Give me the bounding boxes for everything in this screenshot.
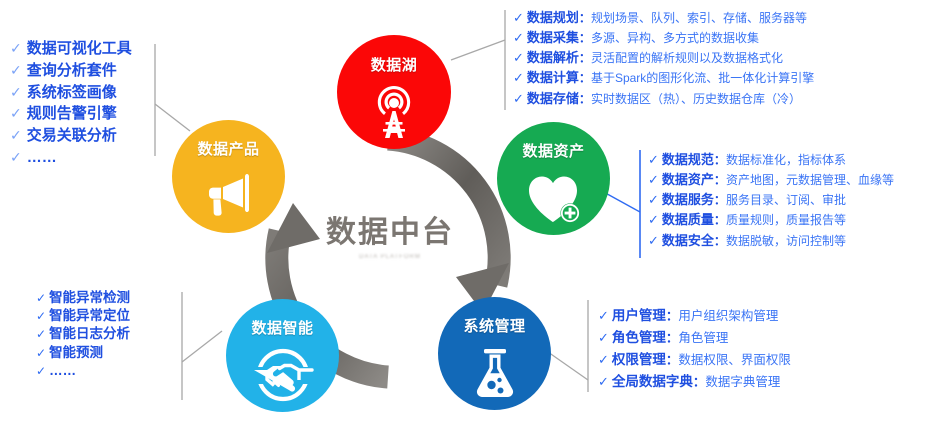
connector-intel xyxy=(182,292,222,400)
callout-item-separator: ： xyxy=(714,232,726,251)
callout-item-separator: ： xyxy=(714,171,726,190)
check-icon: ✓ xyxy=(598,349,609,370)
node-data-lake[interactable]: 数据湖 xyxy=(337,35,451,149)
node-data-intelligence[interactable]: 数据智能 xyxy=(226,299,339,412)
callout-item-desc: 数据脱敏，访问控制等 xyxy=(726,232,846,251)
callout-item-term: 智能异常检测 xyxy=(49,289,130,307)
check-icon: ✓ xyxy=(36,345,46,361)
callout-item: ✓智能预测 xyxy=(36,344,130,362)
callout-item-desc: 规划场景、队列、索引、存储、服务器等 xyxy=(591,9,807,28)
callout-item-term: 全局数据字典 xyxy=(612,371,693,393)
callout-item-separator: ： xyxy=(666,306,679,326)
callout-item-term: 数据采集 xyxy=(527,28,579,48)
callout-item: ✓全局数据字典：数据字典管理 xyxy=(598,371,791,393)
callout-item-term: 权限管理 xyxy=(612,349,666,371)
callout-item-separator: ： xyxy=(666,350,679,370)
callout-item-separator: ： xyxy=(693,372,706,392)
callout-item: ✓规则告警引擎 xyxy=(10,103,132,125)
callout-item-separator: ： xyxy=(714,151,726,170)
callout-item-desc: 服务目录、订阅、审批 xyxy=(726,191,846,210)
callout-item-term: 数据可视化工具 xyxy=(27,38,132,60)
megaphone-icon xyxy=(201,159,257,233)
node-data-asset-label: 数据资产 xyxy=(522,140,584,161)
callout-item-desc: 角色管理 xyxy=(678,328,728,348)
callout-item: ✓权限管理：数据权限、界面权限 xyxy=(598,349,791,371)
callout-item-term: 数据规划 xyxy=(527,8,579,28)
node-data-lake-label: 数据湖 xyxy=(371,54,418,75)
callout-item: ✓…… xyxy=(36,362,130,380)
callout-item-desc: 数据标准化，指标体系 xyxy=(726,151,846,170)
check-icon: ✓ xyxy=(513,68,524,88)
callout-item-desc: 实时数据区（热）、历史数据仓库（冷） xyxy=(591,90,801,109)
callout-item-separator: ： xyxy=(579,69,591,88)
node-system-management-label: 系统管理 xyxy=(463,315,525,336)
check-icon: ✓ xyxy=(10,38,22,58)
callout-item-desc: 资产地图，元数据管理、血缘等 xyxy=(726,171,894,190)
callout-item: ✓数据采集：多源、异构、多方式的数据收集 xyxy=(513,28,814,48)
callout-item: ✓交易关联分析 xyxy=(10,125,132,147)
heart-plus-icon xyxy=(524,161,584,235)
center-title-main: 数据中台 xyxy=(300,207,480,251)
check-icon: ✓ xyxy=(598,327,609,348)
callout-item: ✓数据可视化工具 xyxy=(10,38,132,60)
callout-item-desc: 用户组织架构管理 xyxy=(678,306,778,326)
check-icon: ✓ xyxy=(10,82,22,102)
handshake-icon xyxy=(252,338,314,412)
callout-item-desc: 灵活配置的解析规则以及数据格式化 xyxy=(591,49,783,68)
callout-data-asset: ✓数据规范：数据标准化，指标体系✓数据资产：资产地图，元数据管理、血缘等✓数据服… xyxy=(648,150,894,251)
callout-item-separator: ： xyxy=(714,191,726,210)
callout-item-separator: ： xyxy=(579,49,591,68)
callout-item-separator: ： xyxy=(579,90,591,109)
check-icon: ✓ xyxy=(513,8,524,28)
callout-item: ✓查询分析套件 xyxy=(10,60,132,82)
callout-item-term: 数据服务 xyxy=(662,190,714,210)
callout-data-intelligence: ✓智能异常检测✓智能异常定位✓智能日志分析✓智能预测✓…… xyxy=(36,289,130,380)
check-icon: ✓ xyxy=(648,231,659,251)
callout-item: ✓数据解析：灵活配置的解析规则以及数据格式化 xyxy=(513,48,814,68)
callout-item-desc: 质量规则，质量报告等 xyxy=(726,211,846,230)
node-data-product[interactable]: 数据产品 xyxy=(172,120,285,233)
callout-item: ✓数据安全：数据脱敏，访问控制等 xyxy=(648,231,894,251)
check-icon: ✓ xyxy=(36,326,46,342)
callout-item-term: 规则告警引擎 xyxy=(27,103,117,125)
callout-item-term: 数据质量 xyxy=(662,210,714,230)
callout-item-term: 数据资产 xyxy=(662,170,714,190)
connector-lake xyxy=(451,10,505,110)
callout-item: ✓数据资产：资产地图，元数据管理、血缘等 xyxy=(648,170,894,190)
callout-item: ✓数据质量：质量规则，质量报告等 xyxy=(648,210,894,230)
check-icon: ✓ xyxy=(648,210,659,230)
check-icon: ✓ xyxy=(10,103,22,123)
callout-item-term: 数据计算 xyxy=(527,68,579,88)
callout-item: ✓智能异常检测 xyxy=(36,289,130,307)
callout-item-term: 数据存储 xyxy=(527,89,579,109)
callout-item-term: 数据解析 xyxy=(527,48,579,68)
node-system-management[interactable]: 系统管理 xyxy=(438,297,551,410)
callout-item-term: 系统标签画像 xyxy=(27,82,117,104)
center-title: 数据中台 DATA PLATFORM xyxy=(300,207,480,260)
check-icon: ✓ xyxy=(513,48,524,68)
callout-data-lake: ✓数据规划：规划场景、队列、索引、存储、服务器等✓数据采集：多源、异构、多方式的… xyxy=(513,8,814,109)
callout-item-term: 智能预测 xyxy=(49,344,103,362)
check-icon: ✓ xyxy=(513,89,524,109)
check-icon: ✓ xyxy=(513,28,524,48)
center-title-subtitle: DATA PLATFORM xyxy=(300,254,480,260)
callout-item: ✓数据规划：规划场景、队列、索引、存储、服务器等 xyxy=(513,8,814,28)
callout-item-desc: 基于Spark的图形化流、批一体化计算引擎 xyxy=(591,69,814,88)
callout-item-term: 角色管理 xyxy=(612,327,666,349)
check-icon: ✓ xyxy=(598,371,609,392)
callout-item-term: 用户管理 xyxy=(612,305,666,327)
broadcast-tower-icon xyxy=(368,75,420,149)
check-icon: ✓ xyxy=(648,170,659,190)
callout-item-term: 查询分析套件 xyxy=(27,60,117,82)
callout-item: ✓数据规范：数据标准化，指标体系 xyxy=(648,150,894,170)
callout-item-term: 数据安全 xyxy=(662,231,714,251)
check-icon: ✓ xyxy=(10,147,22,167)
callout-item-separator: ： xyxy=(579,29,591,48)
callout-item-desc: 数据权限、界面权限 xyxy=(678,350,791,370)
check-icon: ✓ xyxy=(10,125,22,145)
check-icon: ✓ xyxy=(36,308,46,324)
callout-item: ✓角色管理：角色管理 xyxy=(598,327,791,349)
node-data-asset[interactable]: 数据资产 xyxy=(497,122,610,235)
diagram-canvas: 数据中台 DATA PLATFORM 数据湖 数据资产 xyxy=(0,0,931,428)
callout-item: ✓智能异常定位 xyxy=(36,307,130,325)
callout-item: ✓数据存储：实时数据区（热）、历史数据仓库（冷） xyxy=(513,89,814,109)
callout-item: ✓…… xyxy=(10,147,132,169)
callout-item-term: 智能异常定位 xyxy=(49,307,130,325)
callout-item-term: 智能日志分析 xyxy=(49,325,130,343)
callout-item-separator: ： xyxy=(666,328,679,348)
node-data-product-label: 数据产品 xyxy=(197,138,259,159)
callout-item-term: 交易关联分析 xyxy=(27,125,117,147)
callout-system-management: ✓用户管理：用户组织架构管理✓角色管理：角色管理✓权限管理：数据权限、界面权限✓… xyxy=(598,305,791,392)
check-icon: ✓ xyxy=(36,290,46,306)
connector-sys xyxy=(548,300,588,392)
callout-item-term: …… xyxy=(27,147,57,169)
callout-item-separator: ： xyxy=(579,9,591,28)
check-icon: ✓ xyxy=(10,60,22,80)
node-data-intelligence-label: 数据智能 xyxy=(251,317,313,338)
check-icon: ✓ xyxy=(648,150,659,170)
callout-item-term: …… xyxy=(49,362,76,380)
callout-item: ✓数据计算：基于Spark的图形化流、批一体化计算引擎 xyxy=(513,68,814,88)
check-icon: ✓ xyxy=(36,363,46,379)
callout-item-desc: 数据字典管理 xyxy=(705,372,780,392)
callout-data-product: ✓数据可视化工具✓查询分析套件✓系统标签画像✓规则告警引擎✓交易关联分析✓…… xyxy=(10,38,132,169)
callout-item: ✓用户管理：用户组织架构管理 xyxy=(598,305,791,327)
callout-item-desc: 多源、异构、多方式的数据收集 xyxy=(591,29,759,48)
callout-item: ✓系统标签画像 xyxy=(10,82,132,104)
callout-item: ✓数据服务：服务目录、订阅、审批 xyxy=(648,190,894,210)
flask-icon xyxy=(471,336,519,410)
check-icon: ✓ xyxy=(648,190,659,210)
callout-item-term: 数据规范 xyxy=(662,150,714,170)
callout-item: ✓智能日志分析 xyxy=(36,325,130,343)
check-icon: ✓ xyxy=(598,305,609,326)
callout-item-separator: ： xyxy=(714,211,726,230)
